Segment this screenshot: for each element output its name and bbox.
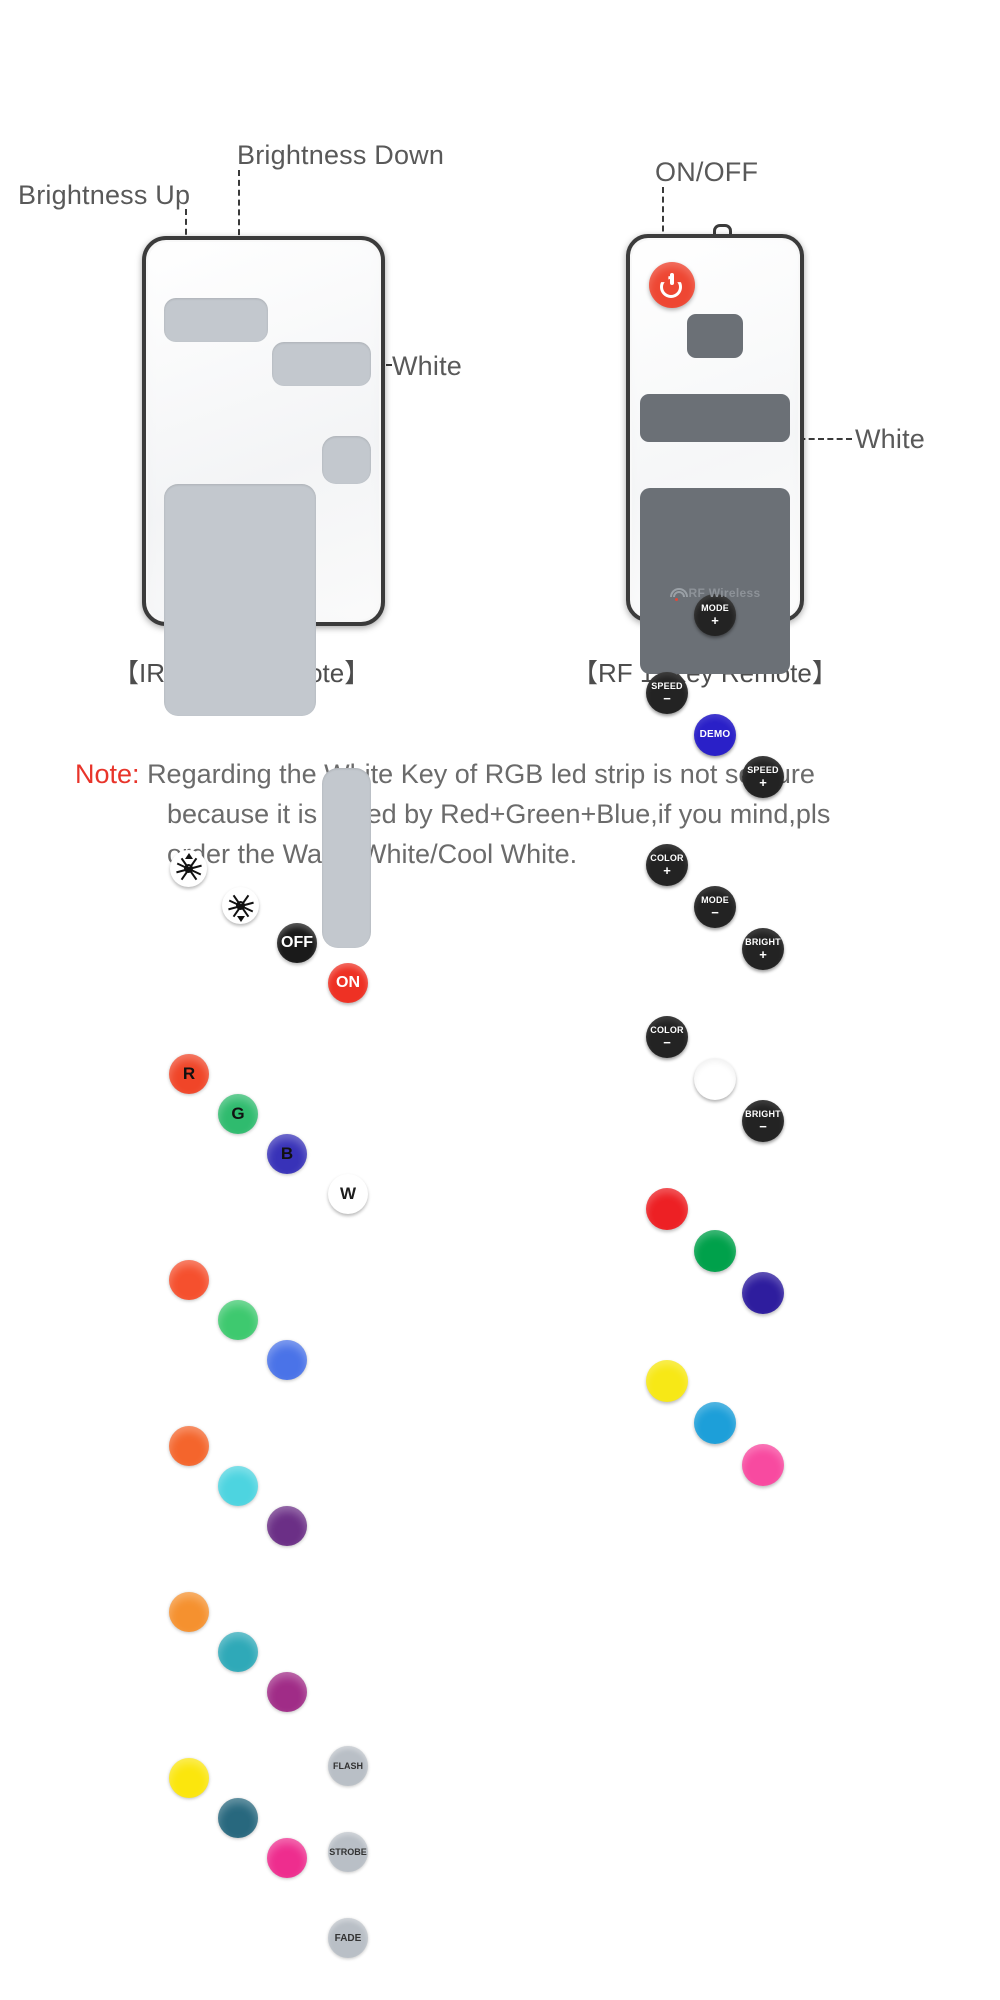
rf-speed-plus-button[interactable]: SPEED +	[742, 756, 784, 798]
ir-fade-button[interactable]: FADE	[328, 1918, 368, 1958]
ir-color-swatch[interactable]	[218, 1466, 258, 1506]
ir-flash-button[interactable]: FLASH	[328, 1746, 368, 1786]
callout-white-ir: White	[392, 351, 462, 382]
sun-down-icon	[228, 893, 254, 919]
rf-speed-plus-label-bot: +	[759, 776, 767, 789]
rf-power-button[interactable]	[649, 262, 695, 308]
rf-mode-minus-label-top: MODE	[701, 896, 729, 905]
rf-color-swatch[interactable]	[742, 1444, 784, 1486]
ir-pad-power	[272, 342, 371, 386]
rf-footer: RF Wireless	[630, 586, 800, 600]
ir-pad-brightness	[164, 298, 268, 342]
wifi-icon	[670, 588, 684, 599]
rf-color-plus-label-bot: +	[663, 864, 671, 877]
rf-mode-plus-label-bot: +	[711, 614, 719, 627]
ir-strobe-button[interactable]: STROBE	[328, 1832, 368, 1872]
ir-color-swatch[interactable]	[169, 1758, 209, 1798]
ir-color-b-label: B	[267, 1134, 307, 1174]
rf-demo-button[interactable]: DEMO	[694, 714, 736, 756]
ir-color-swatch[interactable]	[169, 1260, 209, 1300]
note-label: Note:	[75, 759, 140, 789]
rf-17key-remote: MODE + SPEED − DEMO SPEED + COLOR + MODE…	[626, 234, 804, 622]
rf-color-minus-label-top: COLOR	[650, 1026, 684, 1035]
rf-mode-plus-label-top: MODE	[701, 604, 729, 613]
ir-color-r-button[interactable]: R	[169, 1054, 209, 1094]
ir-brightness-up-button[interactable]	[170, 850, 207, 887]
sun-up-icon	[176, 856, 202, 882]
ir-color-swatch[interactable]	[218, 1300, 258, 1340]
note-block: Note: Regarding the White Key of RGB led…	[75, 755, 955, 875]
ir-pad-white	[322, 436, 371, 484]
illustration-canvas: Brightness Up Brightness Down ON/OFF Whi…	[0, 0, 1000, 1000]
rf-pad-mode-plus	[687, 314, 743, 358]
note-text-2: because it is mixed by Red+Green+Blue,if…	[75, 795, 955, 835]
ir-pad-colors	[164, 484, 316, 716]
rf-mode-minus-label-bot: −	[711, 906, 719, 919]
rf-demo-label: DEMO	[700, 730, 731, 740]
rf-bright-plus-label-top: BRIGHT	[745, 938, 781, 947]
rf-bright-plus-label-bot: +	[759, 948, 767, 961]
note-text-3: order the Warm White/Cool White.	[75, 835, 955, 875]
rf-pad-row-speed	[640, 394, 790, 442]
callout-white-rf: White	[855, 424, 925, 455]
rf-color-swatch[interactable]	[646, 1360, 688, 1402]
ir-color-swatch[interactable]	[267, 1838, 307, 1878]
ir-color-r-label: R	[169, 1054, 209, 1094]
ir-color-g-label: G	[218, 1094, 258, 1134]
rf-color-swatch[interactable]	[694, 1230, 736, 1272]
rf-bright-plus-button[interactable]: BRIGHT +	[742, 928, 784, 970]
ir-color-swatch[interactable]	[218, 1632, 258, 1672]
callout-on-off: ON/OFF	[655, 157, 758, 188]
rf-speed-plus-label-top: SPEED	[747, 766, 779, 775]
rf-color-swatch[interactable]	[742, 1272, 784, 1314]
rf-white-button[interactable]	[694, 1058, 736, 1100]
rf-color-swatch[interactable]	[646, 1188, 688, 1230]
rf-color-swatch[interactable]	[694, 1402, 736, 1444]
rf-footer-label: RF Wireless	[689, 586, 761, 600]
rf-color-minus-button[interactable]: COLOR −	[646, 1016, 688, 1058]
ir-color-swatch[interactable]	[267, 1340, 307, 1380]
callout-brightness-down: Brightness Down	[237, 140, 444, 171]
ir-on-button[interactable]: ON	[328, 963, 368, 1003]
note-line-1: Note: Regarding the White Key of RGB led…	[75, 755, 955, 795]
power-icon	[660, 273, 684, 297]
rf-mode-minus-button[interactable]: MODE −	[694, 886, 736, 928]
rf-bright-minus-label-bot: −	[759, 1120, 767, 1133]
ir-color-swatch[interactable]	[169, 1592, 209, 1632]
rf-speed-minus-label-bot: −	[663, 692, 671, 705]
rf-speed-minus-label-top: SPEED	[651, 682, 683, 691]
ir-24key-remote: OFF ON R G B W FLASH STROBE FADE SMOOTH	[142, 236, 385, 626]
rf-speed-minus-button[interactable]: SPEED −	[646, 672, 688, 714]
rf-bright-minus-button[interactable]: BRIGHT −	[742, 1100, 784, 1142]
ir-color-g-button[interactable]: G	[218, 1094, 258, 1134]
ir-white-button[interactable]: W	[328, 1174, 368, 1214]
ir-color-swatch[interactable]	[267, 1672, 307, 1712]
note-text-1: Regarding the White Key of RGB led strip…	[147, 759, 815, 789]
rf-color-plus-label-top: COLOR	[650, 854, 684, 863]
rf-mode-plus-button[interactable]: MODE +	[694, 594, 736, 636]
ir-color-swatch[interactable]	[267, 1506, 307, 1546]
rf-bright-minus-label-top: BRIGHT	[745, 1110, 781, 1119]
rf-color-plus-button[interactable]: COLOR +	[646, 844, 688, 886]
ir-color-b-button[interactable]: B	[267, 1134, 307, 1174]
ir-brightness-down-button[interactable]	[222, 887, 259, 924]
ir-pad-modes	[322, 768, 371, 948]
ir-off-button[interactable]: OFF	[277, 923, 317, 963]
rf-pad-main-grid	[640, 488, 790, 674]
callout-brightness-up: Brightness Up	[18, 180, 190, 211]
rf-color-minus-label-bot: −	[663, 1036, 671, 1049]
ir-color-swatch[interactable]	[218, 1798, 258, 1838]
ir-color-swatch[interactable]	[169, 1426, 209, 1466]
